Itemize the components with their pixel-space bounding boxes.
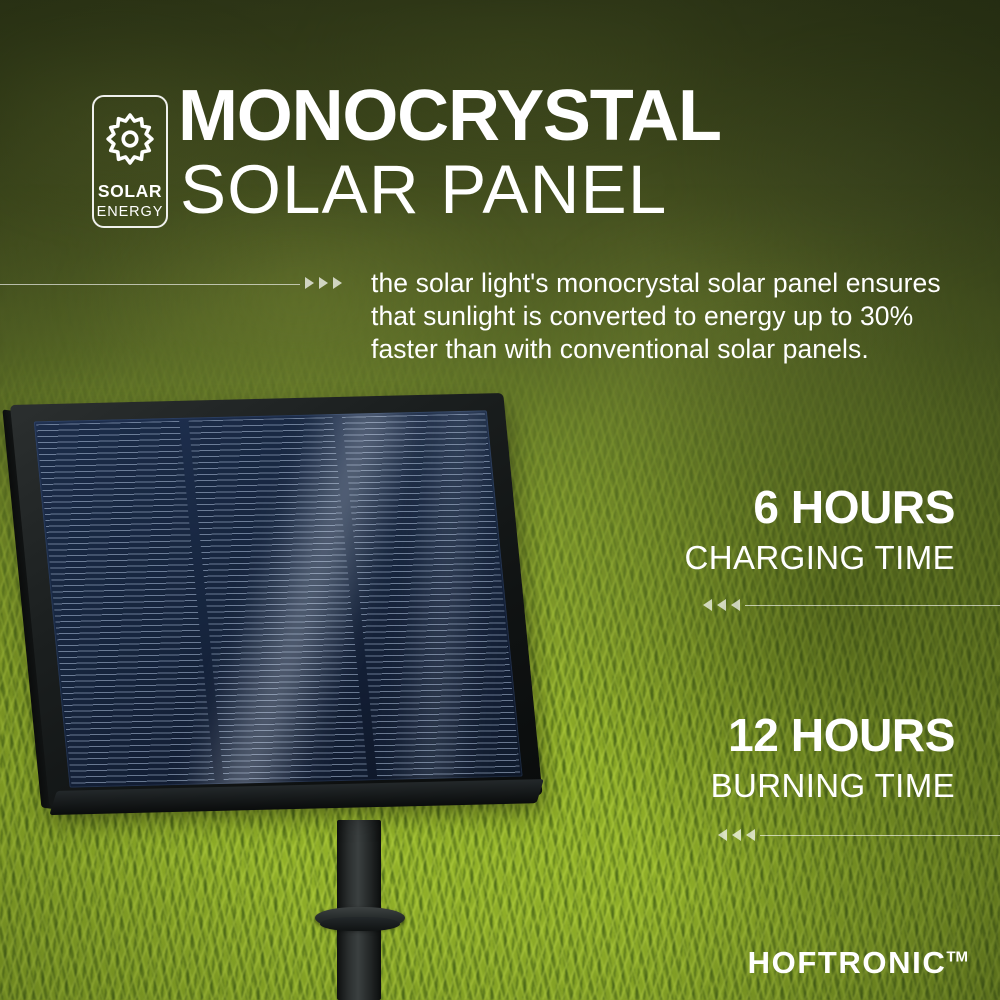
stat-label: BURNING TIME (711, 769, 955, 802)
sun-gear-icon (104, 113, 156, 165)
stat-divider-charging (703, 598, 1000, 612)
product-image-solar-panel (0, 395, 680, 1000)
brand-name: HOFTRONIC (748, 945, 947, 980)
divider-line (745, 605, 1000, 606)
stat-value: 12 HOURS (711, 712, 955, 758)
brand-logo: HOFTRONICTM (748, 947, 968, 978)
headline-secondary: SOLAR PANEL (180, 155, 667, 224)
stat-charging-time: 6 HOURS CHARGING TIME (685, 484, 955, 574)
panel-glass (34, 410, 523, 787)
stat-value: 6 HOURS (685, 484, 955, 530)
stat-divider-burning (718, 828, 1000, 842)
badge-label-solar: SOLAR (98, 183, 162, 201)
brand-trademark: TM (946, 949, 968, 966)
triangle-left-icon (703, 599, 712, 611)
solar-energy-badge: SOLAR ENERGY (92, 95, 168, 228)
triangle-left-icon (731, 599, 740, 611)
description-rule (0, 284, 300, 285)
description-arrow-group (305, 277, 342, 289)
triangle-right-icon (305, 277, 314, 289)
panel-frame (10, 393, 543, 807)
stat-label: CHARGING TIME (685, 541, 955, 574)
stat-burning-time: 12 HOURS BURNING TIME (711, 712, 955, 802)
badge-label-energy: ENERGY (97, 205, 164, 220)
triangle-right-icon (319, 277, 328, 289)
triangle-left-icon (746, 829, 755, 841)
solar-panel-assembly (10, 393, 552, 823)
infographic-canvas: SOLAR ENERGY MONOCRYSTAL SOLAR PANEL the… (0, 0, 1000, 1000)
description-text: the solar light's monocrystal solar pane… (371, 267, 967, 366)
triangle-left-icon (732, 829, 741, 841)
stake-collar-lip (320, 917, 400, 931)
divider-line (760, 835, 1000, 836)
triangle-right-icon (333, 277, 342, 289)
headline-primary: MONOCRYSTAL (178, 80, 721, 152)
triangle-left-icon (718, 829, 727, 841)
triangle-left-icon (717, 599, 726, 611)
